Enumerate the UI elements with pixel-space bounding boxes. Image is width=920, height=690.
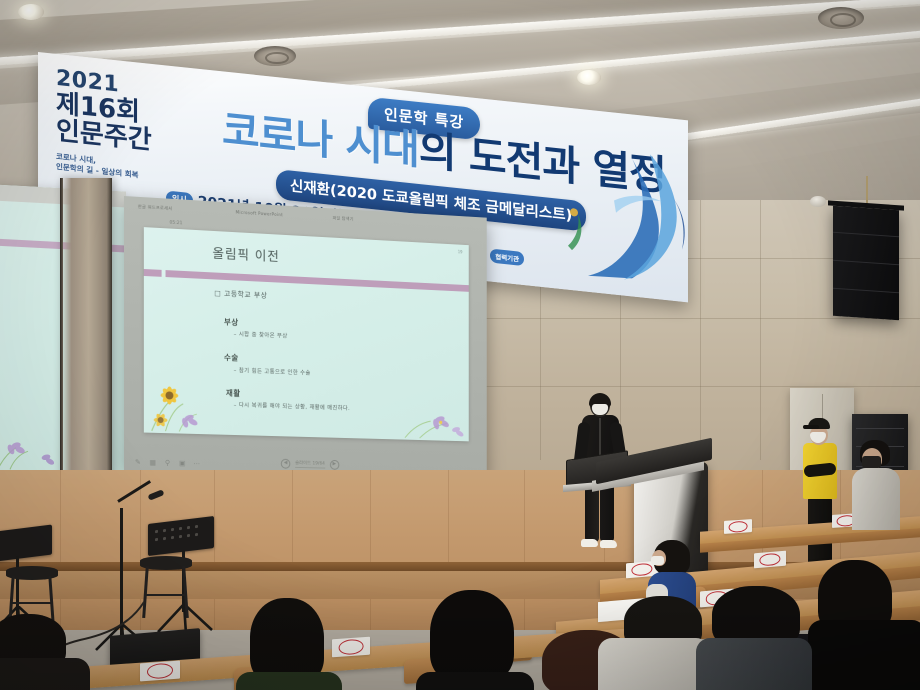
powerpoint-toolbar[interactable]: ✎ ▦ ⚲ ▣ ⋯ — [134, 458, 201, 467]
slide-grid-icon[interactable]: ▦ — [149, 459, 157, 467]
ceiling-vent-1 — [254, 46, 296, 66]
sunflower-icon — [161, 386, 179, 404]
downlight-2 — [577, 70, 601, 85]
distancing-sign-1 — [724, 519, 752, 534]
audience-1-mask — [651, 556, 664, 565]
audience-member-4 — [236, 598, 340, 690]
powerpoint-slide[interactable]: 19 올림픽 이전 □ 고등학교 부상 부상 – 시합 중 찾아온 부상 수술 … — [144, 227, 469, 441]
slide-divider-bar — [144, 269, 469, 292]
slide-nav-label: 슬라이드 19/64 — [295, 460, 325, 468]
distancing-sign-4 — [754, 551, 786, 569]
audience-member-8 — [696, 586, 808, 690]
audience-member-5 — [420, 590, 530, 690]
distancing-sign-9 — [140, 661, 180, 682]
slide-bullet-top: □ 고등학교 부상 — [214, 288, 267, 300]
audience-member-2 — [852, 440, 898, 532]
slide-item-0-detail: – 시합 중 찾아온 부상 — [234, 330, 288, 340]
speaker-rigging — [866, 176, 868, 206]
slide-item-0-heading: 부상 — [224, 316, 239, 327]
photo-scene: 2021 제16회 인문주간 코로나 시대, 인문학의 길 - 일상의 회복 인… — [0, 0, 920, 690]
downlight-1 — [18, 4, 44, 20]
slide-next-button[interactable]: ▶ — [330, 460, 339, 470]
taskbar-item-2[interactable]: 파일 탐색기 — [333, 215, 354, 222]
pen-icon[interactable]: ✎ — [134, 458, 142, 466]
audience-member-7 — [598, 596, 706, 690]
slide-item-1-detail: – 참기 힘든 고통으로 인한 수술 — [234, 366, 311, 377]
line-array-speaker — [833, 206, 899, 321]
slide-item-1-heading: 수술 — [224, 352, 239, 363]
slide-flower-right — [398, 399, 467, 441]
audience-member-3 — [818, 560, 918, 690]
taskbar-item-0[interactable]: 한글 워드프로세서 — [138, 204, 172, 212]
taskbar-clock: 05:21 — [169, 221, 182, 227]
main-projection-screen: 한글 워드프로세서 Microsoft PowerPoint 파일 탐색기 05… — [124, 196, 487, 480]
partner-tag: 협력기관 — [490, 249, 524, 267]
slide-title: 올림픽 이전 — [212, 243, 279, 265]
projected-desktop: 한글 워드프로세서 Microsoft PowerPoint 파일 탐색기 05… — [124, 196, 487, 480]
staff-member — [800, 418, 846, 570]
slide-page-number: 19 — [458, 249, 463, 254]
banner-title-part2: 의 — [419, 126, 456, 178]
slide-navigation[interactable]: ◀ 슬라이드 19/64 ▶ — [281, 459, 339, 470]
audience-2-mask — [862, 456, 881, 468]
staff-cap — [808, 418, 830, 429]
sponsor-partner: 협력기관 — [490, 249, 524, 267]
banner-brush-artwork — [554, 124, 688, 299]
audience-member-9 — [0, 614, 90, 690]
slide-flower-left — [146, 373, 230, 435]
taskbar-item-1[interactable]: Microsoft PowerPoint — [236, 210, 283, 218]
structural-column — [60, 178, 112, 498]
ceiling-vent-2 — [818, 7, 864, 29]
banner-left-block: 2021 제16회 인문주간 코로나 시대, 인문학의 길 - 일상의 회복 — [56, 68, 236, 192]
pointer-icon[interactable]: ▣ — [178, 459, 186, 467]
magnifier-icon[interactable]: ⚲ — [164, 459, 172, 467]
slide-item-2-detail: – 다시 복귀를 해야 되는 상황, 재활에 매진하다. — [234, 401, 350, 412]
slide-prev-button[interactable]: ◀ — [281, 459, 291, 469]
dome-camera — [810, 196, 826, 207]
more-icon[interactable]: ⋯ — [193, 460, 201, 468]
